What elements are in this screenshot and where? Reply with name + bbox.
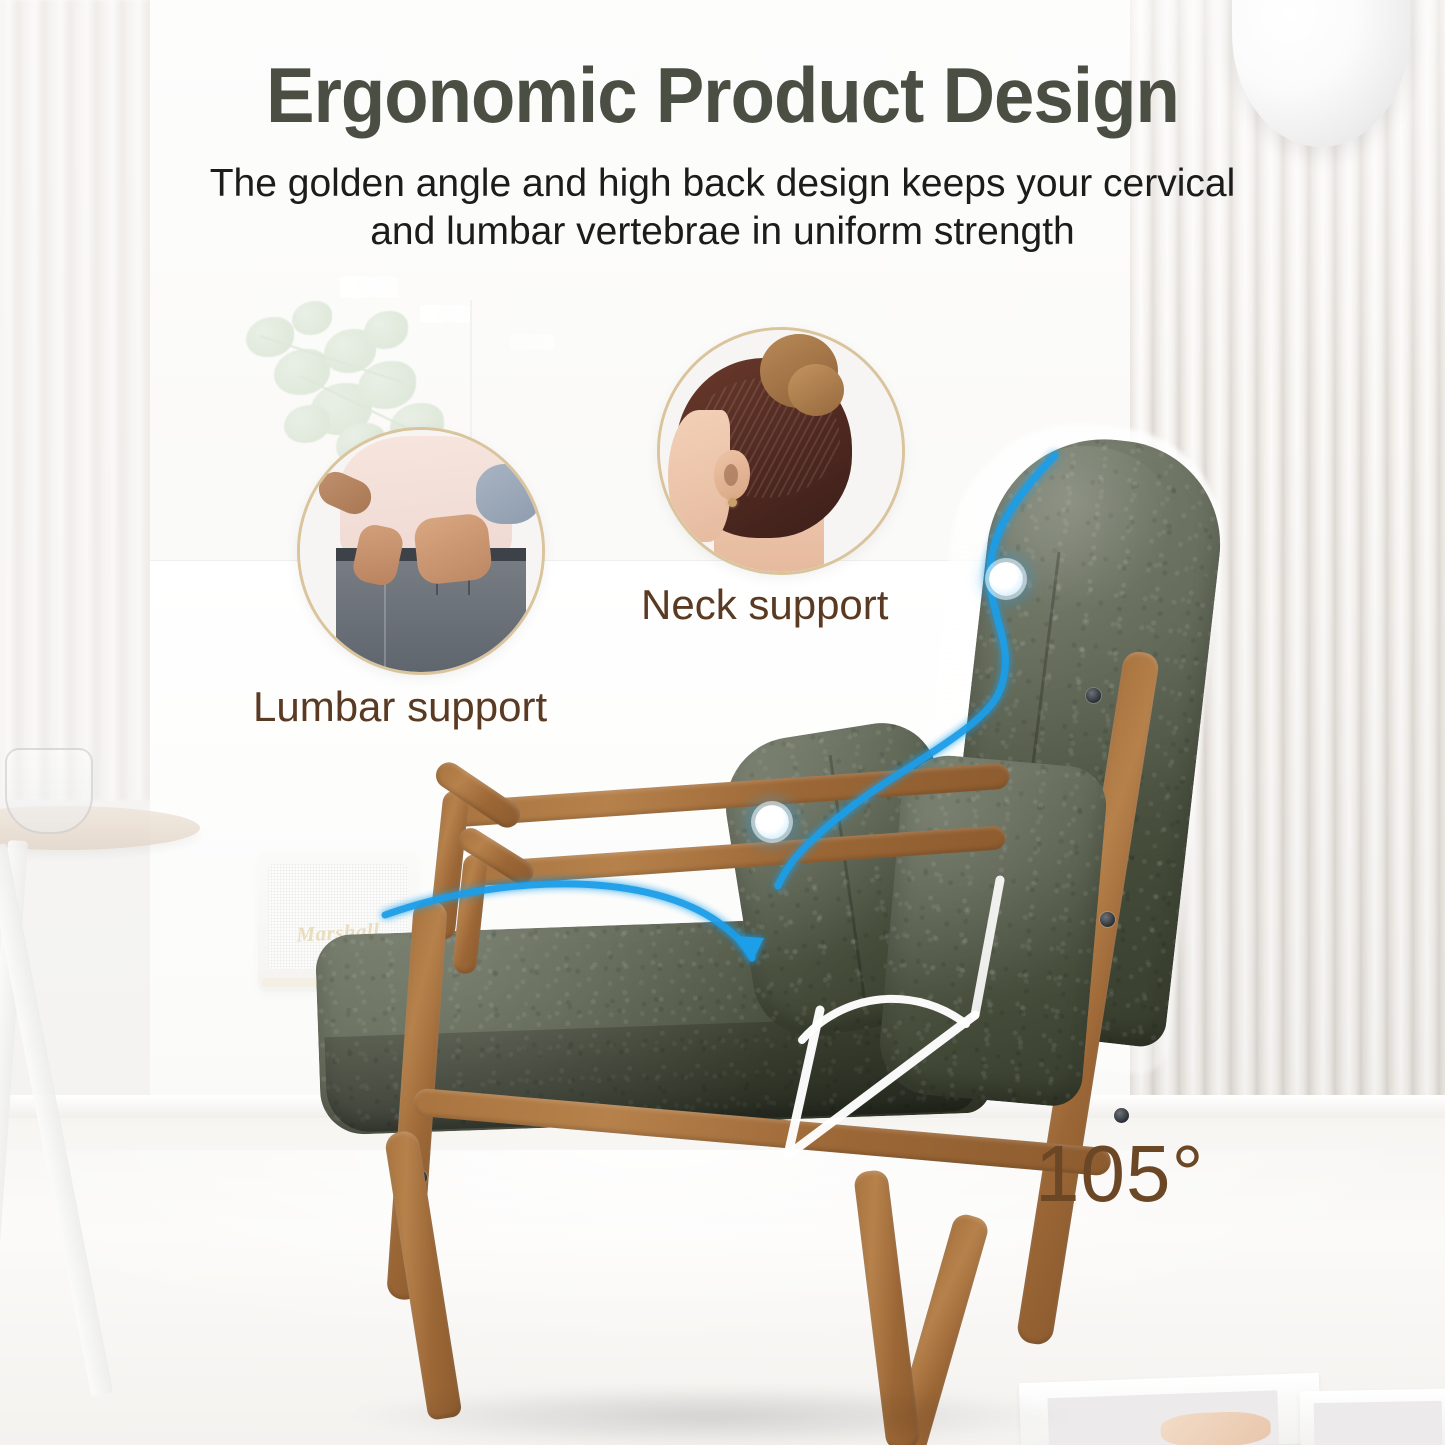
neck-support-inset-photo <box>660 330 902 572</box>
frame-bolt <box>1100 912 1115 927</box>
product-marketing-image: Marshall <box>0 0 1445 1445</box>
lumbar-support-node <box>755 805 789 839</box>
page-title: Ergonomic Product Design <box>51 56 1395 134</box>
drinking-glass <box>5 748 93 834</box>
subtitle-line-2: and lumbar vertebrae in uniform strength <box>90 208 1355 256</box>
butterfly-decor <box>420 300 470 328</box>
chair-floor-shadow <box>350 1386 1070 1445</box>
page-subtitle: The golden angle and high back design ke… <box>90 160 1355 255</box>
lumbar-support-label: Lumbar support <box>253 683 547 731</box>
recline-angle-label: 105° <box>1035 1128 1204 1220</box>
butterfly-decor <box>340 270 398 304</box>
neck-support-node <box>989 562 1023 596</box>
chair-lower-back <box>876 752 1110 1109</box>
subtitle-line-1: The golden angle and high back design ke… <box>90 160 1355 208</box>
frame-bolt <box>1114 1108 1129 1123</box>
lumbar-support-inset-photo <box>300 430 542 672</box>
butterfly-decor <box>510 330 554 354</box>
magazine <box>1300 1389 1445 1445</box>
frame-bolt <box>1086 688 1101 703</box>
neck-support-label: Neck support <box>641 581 888 629</box>
